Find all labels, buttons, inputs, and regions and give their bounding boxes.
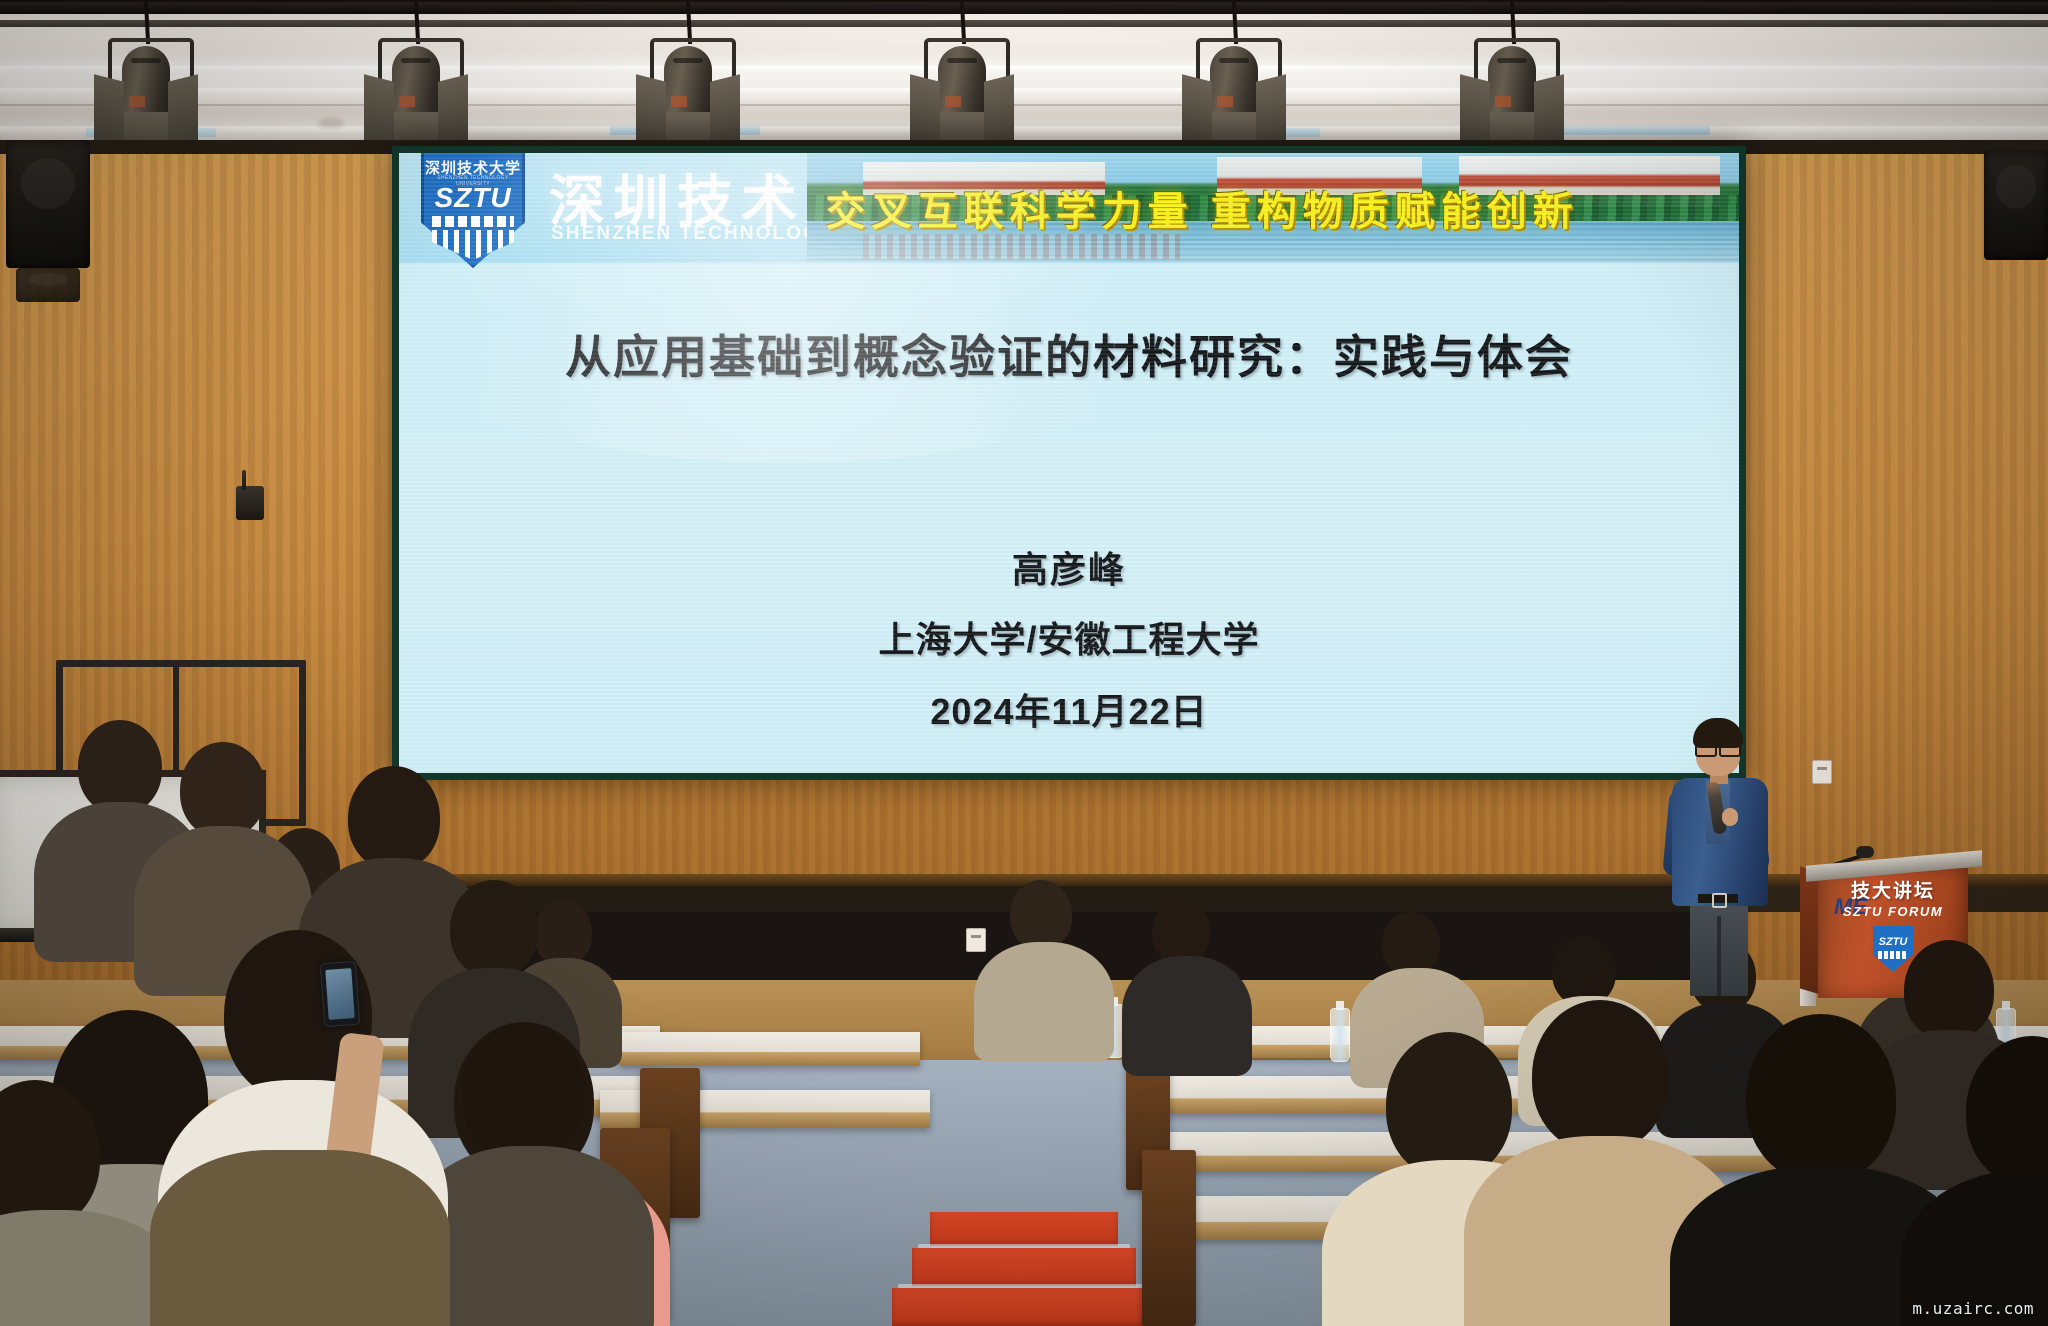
- slide-surface: 深圳技术大学 SHENZHEN TECHNOLOGY UNIVERSITY SZ…: [399, 153, 1739, 773]
- spotlight-label: [399, 96, 415, 107]
- shield-stripe-band: [432, 230, 514, 260]
- slide-header-branding: 深圳技术大学 SHENZHEN TECHNOLOGY UNIVERSITY SZ…: [399, 153, 807, 263]
- spotlight-barndoor: [1256, 74, 1286, 147]
- ceiling-track-rail-secondary: [0, 20, 2048, 27]
- sztu-shield-logo: 深圳技术大学 SHENZHEN TECHNOLOGY UNIVERSITY SZ…: [421, 153, 525, 268]
- ceiling-panel-seam: [0, 104, 2048, 106]
- red-carpet-step: [892, 1288, 1154, 1326]
- spotlight-barndoor: [1534, 74, 1564, 147]
- stage-spotlight: [1184, 0, 1284, 150]
- presentation-date: 2024年11月22日: [399, 683, 1739, 735]
- audience-member: [1126, 900, 1246, 1070]
- spotlight-barndoor: [438, 74, 468, 147]
- person-head: [450, 880, 538, 978]
- ceiling-light-strip: [0, 66, 2048, 75]
- watermark: m.uzairc.com: [1912, 1299, 2034, 1318]
- presenter: [1660, 716, 1790, 996]
- person-head: [180, 742, 266, 838]
- banner-slogan: 交叉互联科学力量 重构物质赋能创新: [826, 179, 1730, 237]
- stage-spotlight: [1462, 0, 1562, 150]
- stage-spotlight: [366, 0, 466, 150]
- person-head: [348, 766, 440, 870]
- spotlight-label: [945, 96, 961, 107]
- ceiling-vent: [1560, 126, 1710, 135]
- bench-end-panel: [1142, 1150, 1196, 1326]
- spotlight-housing: [392, 46, 440, 122]
- slide-header-band: 深圳技术大学 SHENZHEN TECHNOLOGY UNIVERSITY SZ…: [399, 153, 1739, 263]
- audience-member: [430, 1022, 630, 1326]
- stage-spotlight: [96, 0, 196, 150]
- wall-speaker: [6, 140, 90, 268]
- stage-spotlight: [912, 0, 1012, 150]
- spotlight-label: [129, 96, 145, 107]
- person-body: [150, 1150, 450, 1326]
- audience-member: [980, 880, 1110, 1060]
- speaker-affiliation: 上海大学/安徽工程大学: [399, 611, 1739, 663]
- person-head: [462, 1022, 584, 1162]
- spotlight-label: [1495, 96, 1511, 107]
- spotlight-label: [671, 96, 687, 107]
- spotlight-barndoor: [910, 74, 940, 147]
- ceiling-speaker: [236, 486, 264, 520]
- wall-speaker: [1984, 150, 2048, 260]
- wall-outlet: [1812, 760, 1832, 784]
- shield-brick-band: [432, 216, 514, 227]
- spotlight-housing: [1210, 46, 1258, 122]
- projection-screen: 深圳技术大学 SHENZHEN TECHNOLOGY UNIVERSITY SZ…: [392, 146, 1746, 780]
- spotlight-barndoor: [168, 74, 198, 147]
- mic-capsule: [1856, 846, 1874, 858]
- spotlight-barndoor: [1460, 74, 1490, 147]
- spotlight-housing: [938, 46, 986, 122]
- person-head: [1532, 1000, 1668, 1152]
- spotlight-housing: [664, 46, 712, 122]
- slide-title: 从应用基础到概念验证的材料研究：实践与体会: [399, 321, 1739, 387]
- desk-row: [620, 1032, 920, 1066]
- spotlight-barndoor: [364, 74, 394, 147]
- spotlight-barndoor: [636, 74, 666, 147]
- spotlight-label: [1217, 96, 1233, 107]
- person-head: [1382, 912, 1440, 976]
- ceiling-smudge: [318, 118, 344, 128]
- person-head: [1010, 880, 1072, 950]
- red-carpet-step: [930, 1212, 1118, 1246]
- spotlight-housing: [1488, 46, 1536, 122]
- lecture-hall-photo: 深圳技术大学 SHENZHEN TECHNOLOGY UNIVERSITY SZ…: [0, 0, 2048, 1326]
- podium-sign-en: SZTU FORUM: [1822, 904, 1964, 919]
- audience-member: [150, 1150, 450, 1326]
- stage-spotlight: [638, 0, 738, 150]
- person-head: [1746, 1014, 1896, 1182]
- speaker-name: 高彦峰: [399, 541, 1739, 593]
- ceiling: [0, 0, 2048, 148]
- person-head: [1152, 900, 1210, 964]
- person-body: [974, 942, 1114, 1062]
- presenter-belt: [1698, 894, 1738, 903]
- presenter-glasses: [1695, 742, 1741, 753]
- audience-member: [0, 1080, 170, 1326]
- spotlight-barndoor: [94, 74, 124, 147]
- ceiling-speaker-stem: [242, 470, 246, 490]
- wall-speaker-mount: [16, 268, 80, 302]
- spotlight-barndoor: [1182, 74, 1212, 147]
- lake-reflection-buildings: [863, 234, 1180, 258]
- person-head: [1966, 1036, 2048, 1186]
- red-carpet-step: [912, 1248, 1136, 1286]
- person-body: [1122, 956, 1252, 1076]
- podium-sign-cn: 技大讲坛: [1822, 876, 1964, 903]
- audience-member: [1928, 1036, 2048, 1326]
- spotlight-housing: [122, 46, 170, 122]
- smartphone: [320, 961, 360, 1027]
- presenter-legs: [1690, 902, 1748, 996]
- spotlight-barndoor: [710, 74, 740, 147]
- ceiling-light-strip: [0, 126, 2048, 132]
- campus-photo-banner: 交叉互联科学力量 重构物质赋能创新: [807, 153, 1739, 263]
- person-head: [0, 1080, 100, 1230]
- presenter-hand: [1722, 808, 1738, 826]
- spotlight-barndoor: [984, 74, 1014, 147]
- ceiling-track-rail: [0, 2, 2048, 14]
- ceiling-light-strip: [0, 88, 2048, 95]
- shield-abbr-label: SZTU: [421, 182, 525, 214]
